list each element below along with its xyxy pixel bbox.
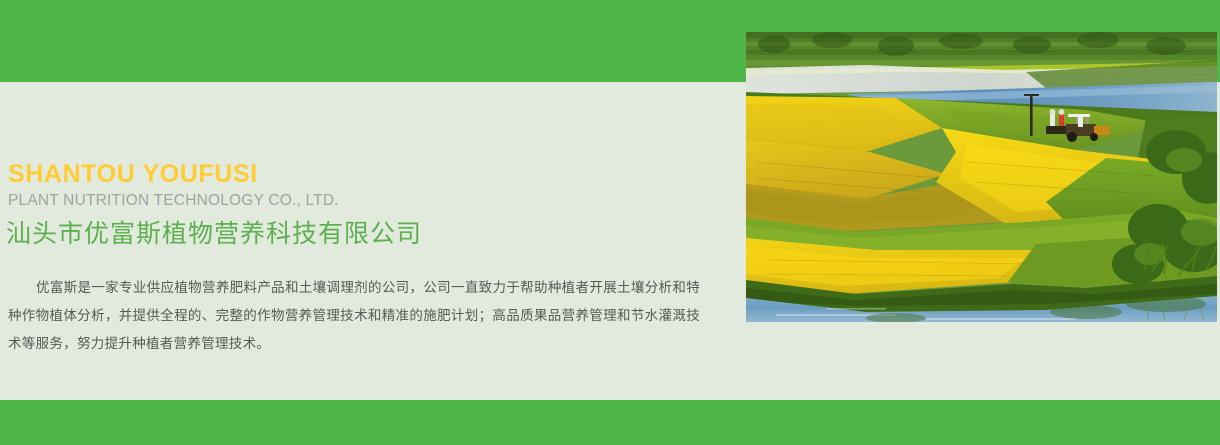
bottom-green-band	[0, 400, 1220, 445]
company-description: 优富斯是一家专业供应植物营养肥料产品和土壤调理剂的公司，公司一直致力于帮助种植者…	[8, 274, 700, 358]
hero-photo-rice-field	[746, 32, 1217, 322]
brand-subtitle-english: PLANT NUTRITION TECHNOLOGY CO., LTD.	[8, 191, 720, 210]
rice-field-illustration	[746, 32, 1217, 322]
brand-name-english: SHANTOU YOUFUSI	[8, 160, 720, 188]
page-root: SHANTOU YOUFUSI PLANT NUTRITION TECHNOLO…	[0, 0, 1220, 445]
company-intro-block: SHANTOU YOUFUSI PLANT NUTRITION TECHNOLO…	[0, 160, 720, 358]
brand-name-chinese: 汕头市优富斯植物营养科技有限公司	[6, 218, 720, 250]
